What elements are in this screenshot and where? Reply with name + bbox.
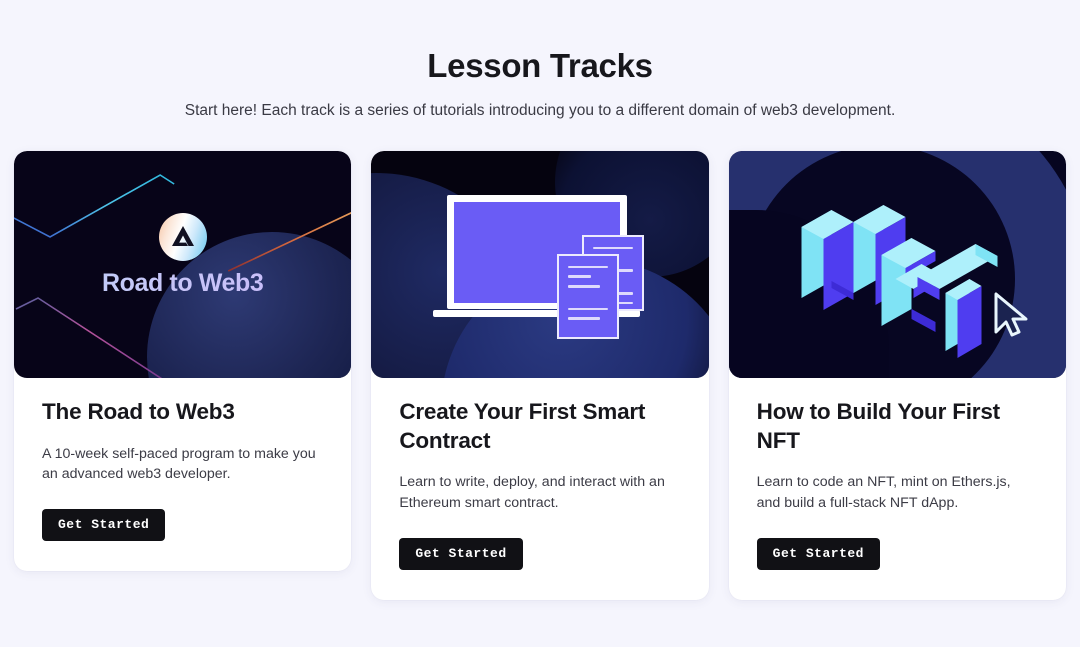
page-header: Lesson Tracks Start here! Each track is … — [0, 46, 1080, 121]
get-started-button[interactable]: Get Started — [757, 538, 880, 570]
doc-text-line — [568, 308, 608, 311]
card-artwork-smart-contract — [371, 151, 708, 378]
doc-text-line — [593, 247, 633, 250]
lesson-track-card-first-smart-contract[interactable]: Create Your First Smart Contract Learn t… — [371, 151, 708, 600]
doc-spacer — [568, 295, 608, 308]
get-started-button[interactable]: Get Started — [399, 538, 522, 570]
mouse-cursor-icon — [990, 290, 1032, 338]
card-description: A 10-week self-paced program to make you… — [42, 444, 323, 485]
card-title: How to Build Your First NFT — [757, 398, 1038, 456]
isometric-nft-text-icon — [790, 169, 1005, 359]
alchemy-logo-icon — [159, 213, 207, 261]
card-title: Create Your First Smart Contract — [399, 398, 680, 456]
lesson-tracks-page: Lesson Tracks Start here! Each track is … — [0, 0, 1080, 647]
nft-3d-glyph — [790, 169, 1005, 359]
card-artwork-nft — [729, 151, 1066, 378]
code-document-front-icon — [557, 254, 619, 339]
doc-text-line — [568, 275, 590, 278]
page-subtitle: Start here! Each track is a series of tu… — [0, 101, 1080, 121]
card-title: The Road to Web3 — [42, 398, 323, 427]
doc-text-line — [568, 317, 599, 320]
alchemy-mark-glyph — [170, 225, 196, 249]
doc-text-line — [568, 266, 608, 269]
lesson-track-card-grid: Road to Web3 The Road to Web3 A 10-week … — [0, 151, 1080, 600]
card-description: Learn to write, deploy, and interact wit… — [399, 472, 680, 513]
card-artwork-road-to-web3: Road to Web3 — [14, 151, 351, 378]
card-body: How to Build Your First NFT Learn to cod… — [729, 378, 1066, 600]
lesson-track-card-road-to-web3[interactable]: Road to Web3 The Road to Web3 A 10-week … — [14, 151, 351, 571]
card-body: The Road to Web3 A 10-week self-paced pr… — [14, 378, 351, 571]
lesson-track-card-first-nft[interactable]: How to Build Your First NFT Learn to cod… — [729, 151, 1066, 600]
card-description: Learn to code an NFT, mint on Ethers.js,… — [757, 472, 1038, 513]
card-body: Create Your First Smart Contract Learn t… — [371, 378, 708, 600]
line-decorations — [14, 151, 351, 378]
doc-text-line — [568, 285, 599, 288]
page-title: Lesson Tracks — [0, 46, 1080, 86]
get-started-button[interactable]: Get Started — [42, 509, 165, 541]
card-art-label: Road to Web3 — [14, 269, 351, 298]
